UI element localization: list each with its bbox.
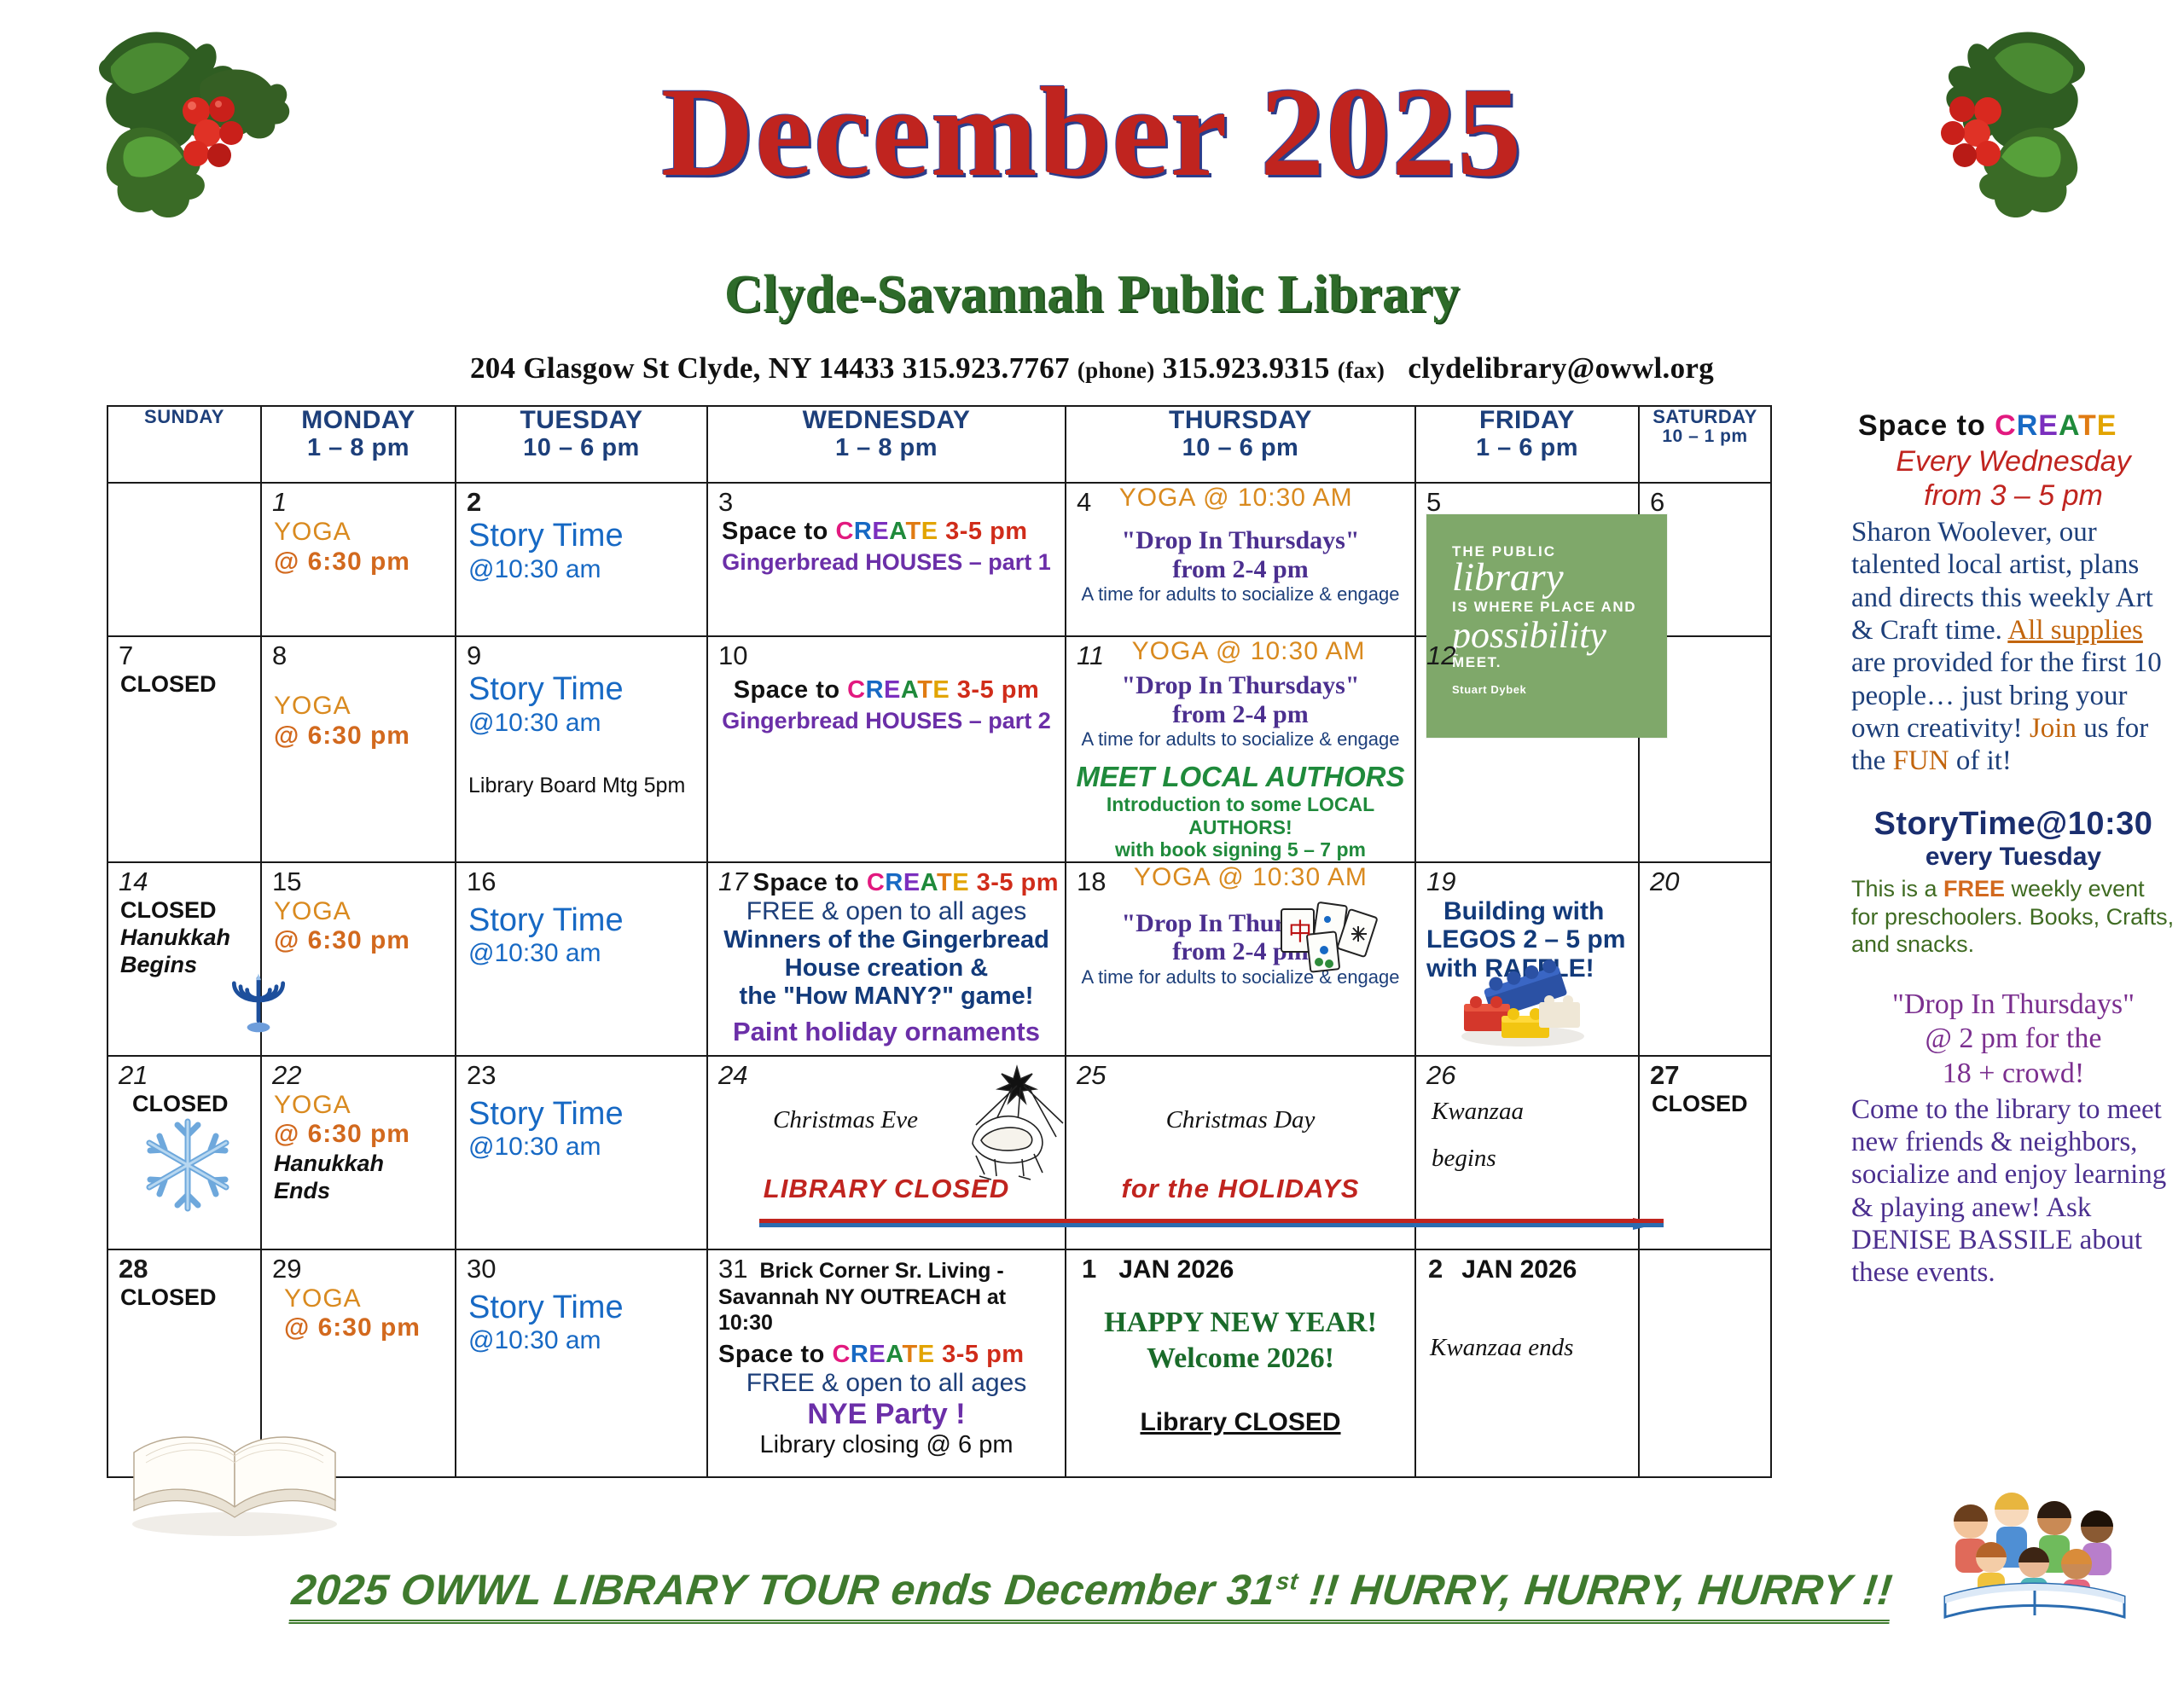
legos-line-2: LEGOS 2 – 5 pm	[1426, 925, 1638, 954]
footer-banner: 2025 OWWL LIBRARY TOUR ends December 31s…	[0, 1565, 2184, 1624]
christmas-day-label: Christmas Day	[1066, 1106, 1414, 1134]
day-number: 9	[456, 637, 481, 671]
day-number: 26	[1416, 1057, 1455, 1091]
closed-label: CLOSED	[108, 1091, 260, 1117]
quote-line-2: library	[1452, 559, 1667, 597]
day-hours: 1 – 6 pm	[1416, 434, 1638, 462]
column-header-friday: FRIDAY1 – 6 pm	[1415, 406, 1639, 483]
sidebar-dropin-title: "Drop In Thursdays" @ 2 pm for the 18 + …	[1851, 988, 2175, 1092]
day-hours: 10 – 6 pm	[456, 434, 706, 462]
day-cell-empty	[107, 483, 261, 636]
day-number: 6	[1640, 484, 1664, 518]
day-number: 5	[1416, 484, 1441, 518]
create-word: CREATE	[832, 1341, 934, 1368]
day-hours: 10 – 6 pm	[1066, 434, 1414, 462]
create-word: CREATE	[847, 676, 950, 704]
drop-in-title: "Drop In Thursdays"	[1066, 526, 1414, 555]
day-cell-17[interactable]: 17Space to CREATE 3-5 pm FREE & open to …	[707, 862, 1066, 1056]
yoga-time: @ 6:30 pm	[274, 548, 455, 577]
yoga-label: YOGA	[274, 518, 455, 548]
day-name: SUNDAY	[108, 407, 260, 426]
day-number	[1640, 645, 1650, 648]
day-number: 16	[456, 863, 496, 897]
free-emphasis: FREE	[1943, 876, 2005, 901]
day-hours: 1 – 8 pm	[708, 434, 1065, 462]
day-cell-19[interactable]: 19 Building with LEGOS 2 – 5 pm with RAF…	[1415, 862, 1639, 1056]
create-prefix: Space to	[752, 869, 866, 896]
day-number: 17	[708, 867, 752, 897]
yoga-event: YOGA @ 6:30 pm	[262, 897, 455, 956]
drop-in-thursdays-event: "Drop In Thursdays" from 2-4 pm	[1066, 671, 1414, 728]
yoga-time: @ 6:30 pm	[274, 722, 455, 751]
yoga-label: YOGA	[274, 1091, 455, 1121]
story-time-event: Story Time @10:30 am	[456, 518, 706, 584]
day-cell-25[interactable]: 25 Christmas Day for the HOLIDAYS	[1066, 1056, 1415, 1249]
day-cell-28[interactable]: 28 CLOSED	[107, 1249, 261, 1477]
day-cell-empty-34	[1639, 1249, 1771, 1477]
lego-bricks-image	[1450, 954, 1595, 1048]
tour-text-b: !! HURRY, HURRY, HURRY !!	[1295, 1566, 1895, 1614]
gingerbread-note: Gingerbread HOUSES – part 1	[715, 549, 1058, 576]
column-header-sunday: SUNDAY	[107, 406, 261, 483]
winners-line-3: the "How MANY?" game!	[708, 983, 1065, 1011]
day-cell-jan-2[interactable]: 2JAN 2026 Kwanzaa ends	[1415, 1249, 1639, 1477]
day-cell-8[interactable]: 8 YOGA @ 6:30 pm	[261, 636, 456, 862]
closed-label: CLOSED	[108, 671, 260, 698]
tour-ordinal: st	[1275, 1568, 1299, 1594]
library-closed-underlined: Library CLOSED	[1066, 1408, 1414, 1437]
create-prefix: Space to	[718, 1341, 832, 1368]
closed-label: CLOSED	[108, 1284, 260, 1311]
story-time-label: Story Time	[468, 902, 624, 938]
fax-number: 315.923.9315	[1163, 351, 1330, 385]
sidebar-storytime-description: This is a FREE weekly event for preschoo…	[1851, 875, 2175, 958]
address-text: 204 Glasgow St Clyde, NY 14433 315.923.7…	[470, 351, 1070, 385]
hanukkah-line-2: Ends	[262, 1177, 455, 1204]
mahjong-tiles-icon: 中	[1276, 901, 1385, 983]
day-cell-26[interactable]: 26 Kwanzaa begins	[1415, 1056, 1639, 1249]
story-time-label: Story Time	[468, 1290, 624, 1325]
drop-in-thursdays-event: "Drop In Thursdays" from 2-4 pm	[1066, 526, 1414, 583]
story-time-time: @10:30 am	[468, 939, 706, 969]
day-number: 4	[1066, 484, 1091, 518]
column-header-wednesday: WEDNESDAY1 – 8 pm	[707, 406, 1066, 483]
fun-word: FUN	[1893, 745, 1949, 776]
day-number: 10	[708, 637, 747, 671]
winners-line-2: House creation &	[708, 954, 1065, 983]
snowflake-icon	[137, 1115, 238, 1215]
day-number: 21	[108, 1057, 148, 1091]
column-header-saturday: SATURDAY10 – 1 pm	[1639, 406, 1771, 483]
day-number: 11	[1066, 637, 1104, 671]
day-cell-15[interactable]: 15 YOGA @ 6:30 pm	[261, 862, 456, 1056]
yoga-event: YOGA @ 6:30 pm	[262, 518, 455, 577]
day-cell-12[interactable]: 12	[1415, 636, 1639, 862]
create-word: CREATE	[867, 869, 969, 896]
january-label: JAN 2026	[1461, 1255, 1577, 1284]
sidebar-create-schedule: Every Wednesday from 3 – 5 pm	[1851, 444, 2175, 513]
day-number: 7	[108, 637, 133, 671]
for-the-holidays-label: for the HOLIDAYS	[1066, 1174, 1414, 1204]
day-number: 28	[108, 1250, 148, 1284]
phone-label: (phone)	[1077, 357, 1155, 383]
day-cell-4[interactable]: 4 YOGA @ 10:30 AM "Drop In Thursdays" fr…	[1066, 483, 1415, 636]
yoga-event: YOGA @ 10:30 AM	[1120, 637, 1366, 667]
day-number: 30	[456, 1250, 496, 1284]
yoga-event: YOGA @ 10:30 AM	[1122, 863, 1368, 893]
day-number: 8	[262, 637, 287, 671]
legos-line-1: Building with	[1426, 897, 1638, 926]
create-time: 3-5 pm	[938, 518, 1028, 545]
story-time-time: @10:30 am	[468, 709, 706, 739]
day-number: 14	[108, 863, 148, 897]
day-cell-23[interactable]: 23 Story Time @10:30 am	[456, 1056, 707, 1249]
column-header-monday: MONDAY1 – 8 pm	[261, 406, 456, 483]
yoga-event: YOGA @ 6:30 pm	[262, 1284, 455, 1343]
create-word: CREATE	[1995, 409, 2117, 442]
day-cell-24[interactable]: 24 Christmas Eve LIBRARY CLOSED	[707, 1056, 1066, 1249]
column-header-tuesday: TUESDAY10 – 6 pm	[456, 406, 707, 483]
story-time-label: Story Time	[468, 1096, 624, 1132]
drop-in-title: "Drop In Thursdays"	[1066, 671, 1414, 700]
day-cell-16[interactable]: 16 Story Time @10:30 am	[456, 862, 707, 1056]
sidebar-storytime-schedule: every Tuesday	[1851, 843, 2175, 872]
happy-new-year-line-2: Welcome 2026!	[1066, 1341, 1414, 1377]
day-cell-31[interactable]: 31Brick Corner Sr. Living - Savannah NY …	[707, 1249, 1066, 1477]
hanukkah-line-1: Hanukkah	[262, 1150, 455, 1177]
day-number: 1	[1066, 1254, 1118, 1284]
sidebar-space-to-create-title: Space to CREATE	[1851, 409, 2175, 443]
day-cell-jan-1[interactable]: 1JAN 2026 HAPPY NEW YEAR! Welcome 2026! …	[1066, 1249, 1415, 1477]
create-prefix: Space to	[1858, 409, 1995, 442]
january-label: JAN 2026	[1118, 1255, 1234, 1284]
quote-line-3: IS WHERE PLACE AND	[1452, 599, 1667, 616]
free-open-note: FREE & open to all ages	[708, 897, 1065, 926]
day-cell-11[interactable]: 11 YOGA @ 10:30 AM "Drop In Thursdays" f…	[1066, 636, 1415, 862]
day-name: FRIDAY	[1416, 407, 1638, 434]
hanukkah-line-1: Hanukkah	[108, 924, 260, 951]
all-supplies-emphasis: All supplies	[2007, 615, 2143, 646]
day-number: 3	[708, 484, 733, 518]
day-number: 12	[1416, 637, 1455, 671]
library-closed-label: LIBRARY CLOSED	[708, 1174, 1065, 1204]
email-address: clydelibrary@owwl.org	[1408, 351, 1714, 385]
owwl-tour-message: 2025 OWWL LIBRARY TOUR ends December 31s…	[289, 1565, 1896, 1624]
meet-local-authors-line-1: Introduction to some LOCAL AUTHORS!	[1066, 793, 1414, 838]
story-time-label: Story Time	[468, 518, 624, 554]
day-number: 27	[1640, 1057, 1679, 1091]
day-number: 20	[1640, 863, 1679, 897]
day-cell-22[interactable]: 22 YOGA @ 6:30 pm Hanukkah Ends	[261, 1056, 456, 1249]
dropin-title-line-3: 18 + crowd!	[1851, 1057, 2175, 1092]
create-prefix: Space to	[722, 518, 835, 545]
closed-label: CLOSED	[1640, 1091, 1770, 1117]
sidebar-dropin-description: Come to the library to meet new friends …	[1851, 1093, 2175, 1290]
contact-line: 204 Glasgow St Clyde, NY 14433 315.923.7…	[0, 351, 2184, 386]
create-time: 3-5 pm	[950, 676, 1039, 704]
story-time-time: @10:30 am	[468, 555, 706, 585]
day-number: 2	[1416, 1254, 1461, 1284]
free-open-note: FREE & open to all ages	[708, 1369, 1065, 1398]
create-schedule-line-1: Every Wednesday	[1851, 444, 2175, 478]
day-cell-7[interactable]: 7 CLOSED	[107, 636, 261, 862]
drop-in-note: A time for adults to socialize & engage	[1066, 583, 1414, 606]
day-number: 25	[1066, 1057, 1106, 1091]
create-schedule-line-2: from 3 – 5 pm	[1851, 478, 2175, 513]
create-time: 3-5 pm	[935, 1341, 1025, 1368]
nye-party-label: NYE Party !	[708, 1398, 1065, 1431]
story-time-time: @10:30 am	[468, 1133, 706, 1162]
library-closing-note: Library closing @ 6 pm	[708, 1431, 1065, 1459]
column-header-thursday: THURSDAY10 – 6 pm	[1066, 406, 1415, 483]
holiday-closure-arrowhead	[1633, 1218, 1662, 1230]
day-cell-20[interactable]: 20	[1639, 862, 1771, 1056]
day-number: 24	[708, 1057, 747, 1091]
day-number	[1640, 1258, 1650, 1261]
day-name: WEDNESDAY	[708, 407, 1065, 434]
story-time-label: Story Time	[468, 671, 624, 707]
day-cell-18[interactable]: 18 YOGA @ 10:30 AM 中	[1066, 862, 1415, 1056]
yoga-event: YOGA @ 6:30 pm	[262, 692, 455, 751]
day-cell-27[interactable]: 27 CLOSED	[1639, 1056, 1771, 1249]
day-cell-9[interactable]: 9 Story Time @10:30 am Library Board Mtg…	[456, 636, 707, 862]
sidebar-storytime-title: StoryTime@10:30	[1851, 806, 2175, 843]
day-cell-29[interactable]: 29 YOGA @ 6:30 pm	[261, 1249, 456, 1477]
fax-label: (fax)	[1338, 357, 1385, 383]
space-to-create-event: Space to CREATE 3-5 pm	[715, 518, 1058, 546]
day-number: 18	[1066, 863, 1106, 897]
day-name: SATURDAY	[1640, 407, 1770, 426]
day-hours: 1 – 8 pm	[262, 434, 455, 462]
yoga-event: YOGA @ 6:30 pm	[262, 1091, 455, 1150]
day-number: 23	[456, 1057, 496, 1091]
winners-line-1: Winners of the Gingerbread	[708, 926, 1065, 954]
yoga-time: @ 6:30 pm	[274, 1120, 455, 1150]
dropin-title-line-2: @ 2 pm for the	[1851, 1022, 2175, 1057]
space-to-create-event: Space to CREATE 3-5 pm	[752, 869, 1059, 896]
story-time-event: Story Time @10:30 am	[456, 1290, 706, 1356]
day-cell-14[interactable]: 14 CLOSED Hanukkah Begins	[107, 862, 261, 1056]
day-number: 2	[456, 484, 481, 518]
tour-text-a: 2025 OWWL LIBRARY TOUR ends December 31	[290, 1566, 1278, 1614]
month-title: December 2025	[0, 68, 2184, 196]
svg-text:中: 中	[1288, 918, 1312, 946]
create-time: 3-5 pm	[969, 869, 1059, 896]
create-word: CREATE	[835, 518, 938, 545]
story-time-event: Story Time @10:30 am	[456, 902, 706, 969]
drop-in-time: from 2-4 pm	[1066, 555, 1414, 584]
meet-local-authors-line-2: with book signing 5 – 7 pm	[1066, 838, 1414, 861]
kwanzaa-line-1: Kwanzaa	[1416, 1098, 1638, 1126]
yoga-event: YOGA @ 10:30 AM	[1107, 484, 1353, 513]
calendar-grid: SUNDAY MONDAY1 – 8 pm TUESDAY10 – 6 pm W…	[107, 405, 1745, 1478]
sidebar-create-description: Sharon Woolever, our talented local arti…	[1851, 516, 2175, 777]
day-cell-21[interactable]: 21 CLOSED	[107, 1056, 261, 1249]
meet-local-authors-title: MEET LOCAL AUTHORS	[1066, 761, 1414, 793]
story-time-event: Story Time @10:30 am	[456, 671, 706, 738]
day-number: 19	[1416, 863, 1455, 897]
day-name: MONDAY	[262, 407, 455, 434]
day-cell-10[interactable]: 10 Space to CREATE 3-5 pm Gingerbread HO…	[707, 636, 1066, 862]
gingerbread-note: Gingerbread HOUSES – part 2	[715, 708, 1058, 734]
day-cell-5[interactable]: 5 THE PUBLIC library IS WHERE PLACE AND …	[1415, 483, 1639, 636]
kwanzaa-line-2: begins	[1416, 1145, 1638, 1173]
day-cell-2[interactable]: 2 Story Time @10:30 am	[456, 483, 707, 636]
day-hours: 10 – 1 pm	[1640, 426, 1770, 447]
board-meeting-note: Library Board Mtg 5pm	[456, 774, 706, 798]
drop-in-note: A time for adults to socialize & engage	[1066, 728, 1414, 751]
day-number: 29	[262, 1250, 301, 1284]
yoga-label: YOGA	[274, 692, 455, 722]
yoga-time: @ 6:30 pm	[284, 1313, 455, 1343]
day-name: TUESDAY	[456, 407, 706, 434]
paint-ornaments-note: Paint holiday ornaments	[708, 1017, 1065, 1047]
happy-new-year-line-1: HAPPY NEW YEAR!	[1066, 1305, 1414, 1342]
create-prefix: Space to	[734, 676, 847, 704]
day-number: 31	[708, 1254, 759, 1284]
day-cell-30[interactable]: 30 Story Time @10:30 am	[456, 1249, 707, 1477]
kwanzaa-ends-label: Kwanzaa ends	[1416, 1334, 1638, 1362]
drop-in-time: from 2-4 pm	[1066, 700, 1414, 729]
day-cell-empty-13	[1639, 636, 1771, 862]
yoga-time: @ 6:30 pm	[274, 926, 455, 956]
day-name: THURSDAY	[1066, 407, 1414, 434]
day-number: 22	[262, 1057, 301, 1091]
day-cell-3[interactable]: 3 Space to CREATE 3-5 pm Gingerbread HOU…	[707, 483, 1066, 636]
closed-label: CLOSED	[108, 897, 260, 924]
yoga-label: YOGA	[284, 1284, 455, 1314]
yoga-label: YOGA	[274, 897, 455, 927]
space-to-create-event: Space to CREATE 3-5 pm	[715, 676, 1058, 704]
day-cell-6[interactable]: 6	[1639, 483, 1771, 636]
space-to-create-event: Space to CREATE 3-5 pm	[708, 1341, 1065, 1369]
story-time-time: @10:30 am	[468, 1326, 706, 1356]
outreach-line-1: Brick Corner Sr. Living -	[759, 1259, 1003, 1283]
day-cell-1[interactable]: 1 YOGA @ 6:30 pm	[261, 483, 456, 636]
info-sidebar: Space to CREATE Every Wednesday from 3 –…	[1851, 409, 2175, 1290]
outreach-line-2: Savannah NY OUTREACH at 10:30	[708, 1284, 1065, 1336]
day-number: 15	[262, 863, 301, 897]
dropin-title-line-1: "Drop In Thursdays"	[1851, 988, 2175, 1023]
join-word: Join	[2030, 713, 2077, 744]
page-header: December 2025 Clyde-Savannah Public Libr…	[0, 0, 2184, 392]
story-time-event: Story Time @10:30 am	[456, 1096, 706, 1162]
library-name: Clyde-Savannah Public Library	[0, 264, 2184, 325]
storytime-desc-part-1: This is a	[1851, 876, 1943, 901]
join-end: of it!	[1949, 745, 2012, 776]
day-number: 1	[262, 484, 287, 518]
